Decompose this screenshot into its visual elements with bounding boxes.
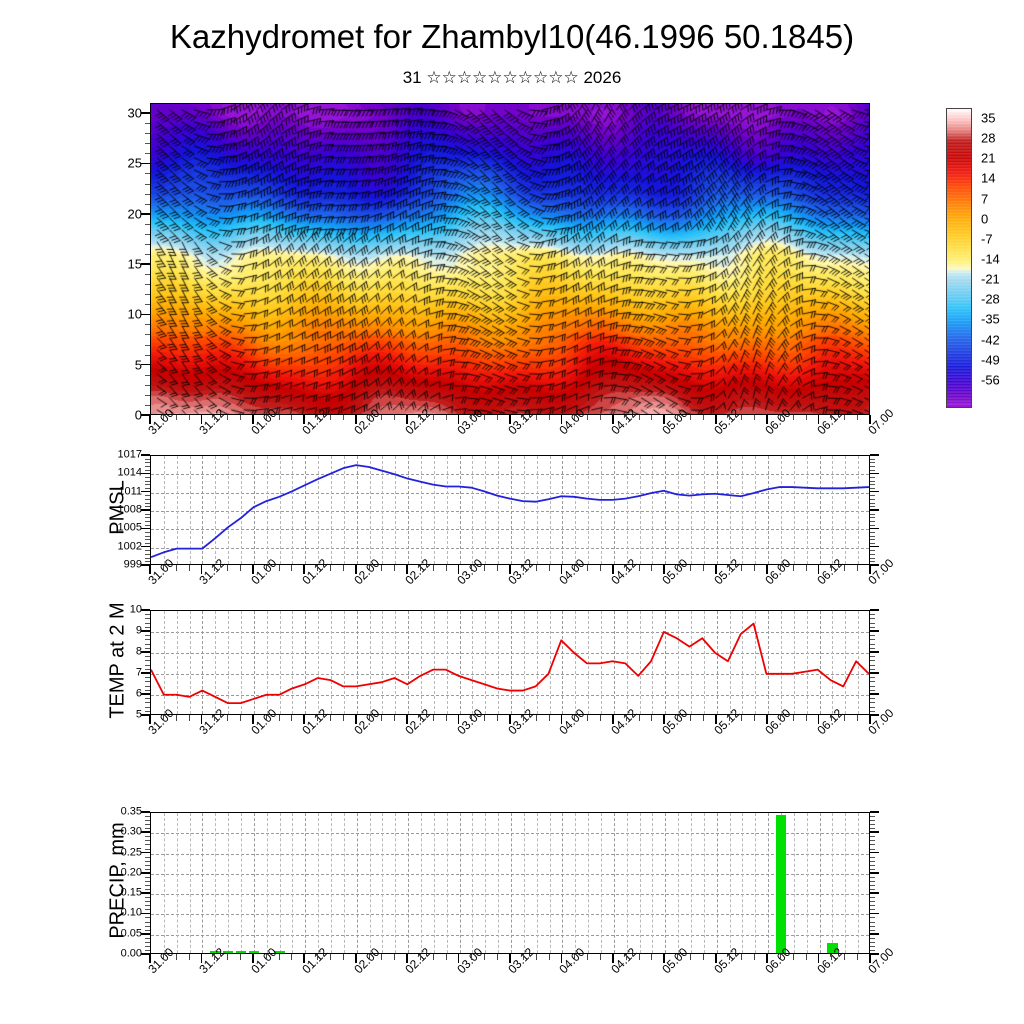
y-minor-tick <box>145 861 150 862</box>
y-minor-tick <box>145 304 150 305</box>
y-minor-tick <box>870 820 875 821</box>
x-minor-tick <box>484 415 485 420</box>
y-tick-right <box>870 630 879 632</box>
cross-section-plot-area <box>151 104 869 414</box>
x-minor-tick <box>523 565 524 571</box>
y-minor-tick <box>870 488 875 489</box>
y-minor-tick <box>145 466 150 467</box>
y-minor-tick <box>145 274 150 275</box>
colorbar-tick-label: -21 <box>981 273 1000 286</box>
x-minor-tick <box>626 715 627 721</box>
y-tick-label: 20 <box>98 207 142 220</box>
x-minor-tick <box>549 715 550 721</box>
y-minor-tick <box>145 627 150 628</box>
x-minor-tick <box>780 565 781 571</box>
x-minor-tick <box>420 565 421 571</box>
y-tick-right <box>870 651 879 653</box>
y-tick <box>141 491 150 493</box>
x-minor-tick <box>189 954 190 960</box>
upper-air-cross-section-panel <box>150 103 870 415</box>
x-minor-tick <box>176 415 177 420</box>
y-minor-tick <box>145 618 150 619</box>
x-minor-tick <box>176 954 177 960</box>
y-tick <box>141 630 150 632</box>
y-tick-right <box>870 509 879 511</box>
y-minor-tick <box>870 816 875 817</box>
precip-plot-area <box>151 813 869 953</box>
x-minor-tick <box>626 415 627 420</box>
precip-axis-title: PRECIP, mm <box>107 781 130 981</box>
y-tick <box>141 263 150 265</box>
y-minor-tick <box>145 865 150 866</box>
y-tick-right <box>870 892 879 894</box>
colorbar-tick-label: -42 <box>981 333 1000 346</box>
y-minor-tick <box>870 881 875 882</box>
temp-2m-axis-title: TEMP at 2 M <box>107 560 130 760</box>
x-minor-tick <box>394 715 395 721</box>
x-minor-tick <box>291 565 292 571</box>
x-minor-tick <box>806 954 807 960</box>
x-minor-tick <box>317 415 318 420</box>
y-minor-tick <box>870 950 875 951</box>
y-minor-tick <box>145 484 150 485</box>
y-minor-tick <box>145 459 150 460</box>
y-minor-tick <box>145 324 150 325</box>
colorbar-tick-label: -14 <box>981 253 1000 266</box>
colorbar-tick-label: 0 <box>981 212 988 225</box>
x-minor-tick <box>536 715 537 721</box>
y-minor-tick <box>145 905 150 906</box>
x-minor-tick <box>497 415 498 420</box>
x-minor-tick <box>754 565 755 571</box>
x-minor-tick <box>330 415 331 420</box>
x-minor-tick <box>266 415 267 420</box>
y-minor-tick <box>145 836 150 837</box>
y-minor-tick <box>145 707 150 708</box>
y-minor-tick <box>145 234 150 235</box>
x-minor-tick <box>844 415 845 420</box>
y-minor-tick <box>145 877 150 878</box>
y-minor-tick <box>870 477 875 478</box>
y-minor-tick <box>145 828 150 829</box>
colorbar-tick-label: 28 <box>981 132 995 145</box>
y-minor-tick <box>145 909 150 910</box>
x-minor-tick <box>574 954 575 960</box>
y-tick-right <box>870 672 879 674</box>
y-tick-label: 30 <box>98 107 142 120</box>
y-minor-tick <box>145 143 150 144</box>
x-minor-tick <box>703 954 704 960</box>
x-minor-tick <box>381 954 382 960</box>
y-minor-tick <box>870 466 875 467</box>
x-minor-tick <box>639 954 640 960</box>
y-tick <box>141 509 150 511</box>
x-minor-tick <box>330 565 331 571</box>
y-tick-label: 25 <box>98 157 142 170</box>
x-minor-tick <box>381 715 382 721</box>
y-minor-tick <box>145 543 150 544</box>
y-tick <box>141 872 150 874</box>
y-minor-tick <box>870 930 875 931</box>
y-minor-tick <box>870 690 875 691</box>
x-minor-tick <box>536 954 537 960</box>
x-minor-tick <box>780 715 781 721</box>
x-minor-tick <box>536 565 537 571</box>
y-minor-tick <box>870 926 875 927</box>
y-minor-tick <box>870 909 875 910</box>
y-minor-tick <box>870 938 875 939</box>
x-minor-tick <box>343 415 344 420</box>
y-tick <box>141 546 150 548</box>
x-minor-tick <box>780 954 781 960</box>
x-minor-tick <box>574 565 575 571</box>
x-minor-tick <box>227 415 228 420</box>
x-minor-tick <box>279 415 280 420</box>
x-minor-tick <box>626 954 627 960</box>
x-minor-tick <box>240 565 241 571</box>
colorbar-tick-label: -35 <box>981 313 1000 326</box>
y-tick-label: 5 <box>98 358 142 371</box>
y-minor-tick <box>870 495 875 496</box>
x-minor-tick <box>574 415 575 420</box>
y-tick <box>141 112 150 114</box>
x-minor-tick <box>574 715 575 721</box>
temp-series <box>151 611 869 714</box>
y-minor-tick <box>145 897 150 898</box>
y-minor-tick <box>145 254 150 255</box>
x-minor-tick <box>831 715 832 721</box>
x-minor-tick <box>176 715 177 721</box>
y-minor-tick <box>145 499 150 500</box>
x-minor-tick <box>806 715 807 721</box>
x-minor-tick <box>651 415 652 420</box>
x-minor-tick <box>317 565 318 571</box>
x-minor-tick <box>484 565 485 571</box>
y-minor-tick <box>870 618 875 619</box>
x-minor-tick <box>266 715 267 721</box>
y-minor-tick <box>145 881 150 882</box>
x-minor-tick <box>227 565 228 571</box>
x-minor-tick <box>703 715 704 721</box>
y-minor-tick <box>145 503 150 504</box>
y-minor-tick <box>870 459 875 460</box>
y-tick-label: 15 <box>98 258 142 271</box>
x-minor-tick <box>369 954 370 960</box>
colorbar-tick-label: 21 <box>981 152 995 165</box>
x-minor-tick <box>163 415 164 420</box>
y-minor-tick <box>870 660 875 661</box>
x-minor-tick <box>523 415 524 420</box>
x-minor-tick <box>549 415 550 420</box>
y-minor-tick <box>145 224 150 225</box>
x-minor-tick <box>420 715 421 721</box>
x-minor-tick <box>677 954 678 960</box>
x-minor-tick <box>703 415 704 420</box>
y-minor-tick <box>145 950 150 951</box>
y-minor-tick <box>145 550 150 551</box>
y-minor-tick <box>145 123 150 124</box>
y-minor-tick <box>145 639 150 640</box>
y-minor-tick <box>870 686 875 687</box>
y-minor-tick <box>870 840 875 841</box>
page-subtitle: 31 ☆☆☆☆☆☆☆☆☆☆ 2026 <box>0 68 1024 88</box>
precip-panel <box>150 812 870 954</box>
x-minor-tick <box>343 715 344 721</box>
x-minor-tick <box>497 954 498 960</box>
y-minor-tick <box>870 824 875 825</box>
x-minor-tick <box>677 565 678 571</box>
x-minor-tick <box>446 715 447 721</box>
y-minor-tick <box>870 639 875 640</box>
y-minor-tick <box>145 901 150 902</box>
y-minor-tick <box>870 865 875 866</box>
y-minor-tick <box>145 558 150 559</box>
y-tick <box>141 163 150 165</box>
x-minor-tick <box>369 415 370 420</box>
y-tick <box>141 852 150 854</box>
colorbar-tick-label: -56 <box>981 373 1000 386</box>
x-minor-tick <box>754 415 755 420</box>
y-minor-tick <box>870 901 875 902</box>
x-minor-tick <box>729 415 730 420</box>
y-tick <box>141 892 150 894</box>
x-minor-tick <box>639 565 640 571</box>
x-minor-tick <box>471 954 472 960</box>
x-minor-tick <box>651 715 652 721</box>
y-tick <box>141 811 150 813</box>
y-minor-tick <box>870 517 875 518</box>
x-minor-tick <box>214 715 215 721</box>
y-minor-tick <box>145 820 150 821</box>
y-minor-tick <box>145 173 150 174</box>
x-minor-tick <box>600 565 601 571</box>
y-tick-right <box>870 473 879 475</box>
x-minor-tick <box>690 954 691 960</box>
colorbar-tick-label: 35 <box>981 112 995 125</box>
x-minor-tick <box>317 715 318 721</box>
pmsl-series <box>151 456 869 564</box>
wind-barbs-overlay <box>151 104 869 414</box>
y-tick-right <box>870 913 879 915</box>
y-minor-tick <box>870 635 875 636</box>
colorbar-tick-label: -49 <box>981 353 1000 366</box>
x-minor-tick <box>420 415 421 420</box>
y-minor-tick <box>870 905 875 906</box>
x-minor-tick <box>266 565 267 571</box>
y-minor-tick <box>870 561 875 562</box>
x-minor-tick <box>214 415 215 420</box>
y-minor-tick <box>870 707 875 708</box>
y-minor-tick <box>870 558 875 559</box>
x-minor-tick <box>831 415 832 420</box>
x-minor-tick <box>741 565 742 571</box>
y-minor-tick <box>145 355 150 356</box>
x-minor-tick <box>741 954 742 960</box>
y-minor-tick <box>870 702 875 703</box>
x-minor-tick <box>291 715 292 721</box>
colorbar-tick-label: -28 <box>981 293 1000 306</box>
x-minor-tick <box>163 954 164 960</box>
y-minor-tick <box>870 644 875 645</box>
y-minor-tick <box>145 204 150 205</box>
x-minor-tick <box>227 715 228 721</box>
x-minor-tick <box>690 565 691 571</box>
y-minor-tick <box>870 554 875 555</box>
y-minor-tick <box>145 669 150 670</box>
y-minor-tick <box>870 648 875 649</box>
y-minor-tick <box>145 917 150 918</box>
y-minor-tick <box>145 514 150 515</box>
y-tick <box>141 672 150 674</box>
x-minor-tick <box>394 565 395 571</box>
x-minor-tick <box>793 715 794 721</box>
y-minor-tick <box>870 614 875 615</box>
y-minor-tick <box>145 375 150 376</box>
colorbar-tick-label: 7 <box>981 192 988 205</box>
x-minor-tick <box>806 415 807 420</box>
y-minor-tick <box>145 922 150 923</box>
x-minor-tick <box>626 565 627 571</box>
y-minor-tick <box>145 284 150 285</box>
y-minor-tick <box>145 690 150 691</box>
x-minor-tick <box>291 954 292 960</box>
x-minor-tick <box>587 565 588 571</box>
y-tick <box>141 913 150 915</box>
x-minor-tick <box>844 954 845 960</box>
x-minor-tick <box>729 715 730 721</box>
y-tick-right <box>870 852 879 854</box>
y-tick-right <box>870 693 879 695</box>
x-minor-tick <box>381 415 382 420</box>
y-tick <box>141 473 150 475</box>
x-minor-tick <box>600 715 601 721</box>
x-tick-label: 07.00 <box>866 407 896 437</box>
y-minor-tick <box>145 532 150 533</box>
x-minor-tick <box>433 954 434 960</box>
x-minor-tick <box>549 565 550 571</box>
y-minor-tick <box>145 477 150 478</box>
y-minor-tick <box>145 926 150 927</box>
x-minor-tick <box>240 415 241 420</box>
y-tick <box>141 364 150 366</box>
x-minor-tick <box>639 715 640 721</box>
x-minor-tick <box>549 954 550 960</box>
precip-bar <box>249 951 260 953</box>
y-minor-tick <box>145 816 150 817</box>
y-minor-tick <box>870 857 875 858</box>
y-minor-tick <box>145 698 150 699</box>
y-minor-tick <box>870 669 875 670</box>
y-minor-tick <box>870 889 875 890</box>
x-minor-tick <box>330 954 331 960</box>
y-tick-right <box>870 454 879 456</box>
y-minor-tick <box>145 194 150 195</box>
y-minor-tick <box>145 294 150 295</box>
x-minor-tick <box>831 954 832 960</box>
y-tick-label: 10 <box>98 308 142 321</box>
y-minor-tick <box>145 711 150 712</box>
y-minor-tick <box>870 681 875 682</box>
y-minor-tick <box>145 244 150 245</box>
y-minor-tick <box>870 536 875 537</box>
x-minor-tick <box>369 715 370 721</box>
y-minor-tick <box>145 554 150 555</box>
y-minor-tick <box>145 623 150 624</box>
y-minor-tick <box>145 942 150 943</box>
y-minor-tick <box>870 844 875 845</box>
y-minor-tick <box>870 711 875 712</box>
pmsl-plot-area <box>151 456 869 564</box>
x-minor-tick <box>189 415 190 420</box>
y-minor-tick <box>145 702 150 703</box>
x-minor-tick <box>741 715 742 721</box>
x-minor-tick <box>741 415 742 420</box>
y-tick-right <box>870 546 879 548</box>
x-minor-tick <box>857 715 858 721</box>
y-minor-tick <box>870 503 875 504</box>
x-minor-tick <box>279 954 280 960</box>
precip-bar <box>776 815 787 953</box>
y-minor-tick <box>145 385 150 386</box>
x-minor-tick <box>446 954 447 960</box>
x-minor-tick <box>176 565 177 571</box>
x-minor-tick <box>214 565 215 571</box>
pmsl-panel <box>150 455 870 565</box>
y-minor-tick <box>870 922 875 923</box>
x-minor-tick <box>857 565 858 571</box>
x-minor-tick <box>471 415 472 420</box>
y-minor-tick <box>870 897 875 898</box>
x-minor-tick <box>279 715 280 721</box>
y-minor-tick <box>145 133 150 134</box>
y-minor-tick <box>870 532 875 533</box>
x-minor-tick <box>279 565 280 571</box>
y-minor-tick <box>870 836 875 837</box>
temp-2m-line <box>151 624 869 704</box>
x-minor-tick <box>369 565 370 571</box>
x-minor-tick <box>857 954 858 960</box>
x-minor-tick <box>639 415 640 420</box>
temp-2m-panel <box>150 610 870 715</box>
forecast-page: Kazhydromet for Zhambyl10(46.1996 50.184… <box>0 0 1024 1024</box>
y-minor-tick <box>870 946 875 947</box>
y-tick-right <box>870 491 879 493</box>
x-minor-tick <box>214 954 215 960</box>
y-minor-tick <box>870 849 875 850</box>
y-minor-tick <box>870 627 875 628</box>
y-minor-tick <box>870 481 875 482</box>
y-tick <box>141 933 150 935</box>
x-minor-tick <box>381 565 382 571</box>
y-minor-tick <box>145 614 150 615</box>
x-minor-tick <box>446 415 447 420</box>
y-tick-right <box>870 528 879 530</box>
y-minor-tick <box>145 153 150 154</box>
x-minor-tick <box>793 565 794 571</box>
x-minor-tick <box>600 954 601 960</box>
y-minor-tick <box>145 681 150 682</box>
colorbar-tick-label: -7 <box>981 232 993 245</box>
x-minor-tick <box>587 954 588 960</box>
y-minor-tick <box>145 857 150 858</box>
y-tick <box>141 693 150 695</box>
y-minor-tick <box>870 861 875 862</box>
y-minor-tick <box>145 677 150 678</box>
y-minor-tick <box>145 930 150 931</box>
x-minor-tick <box>484 715 485 721</box>
y-minor-tick <box>145 844 150 845</box>
y-tick <box>141 651 150 653</box>
